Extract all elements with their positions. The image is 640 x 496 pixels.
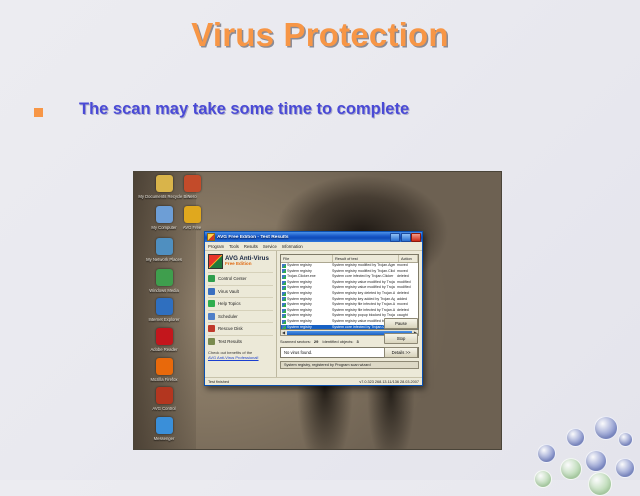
desktop-icon-glyph (156, 269, 173, 286)
desktop-icon[interactable]: My Network Places (136, 238, 192, 262)
pause-button[interactable]: Pause (384, 318, 418, 329)
close-button[interactable] (411, 233, 421, 242)
bullet-text: The scan may take some time to complete (79, 100, 409, 120)
desktop-icon-glyph (156, 328, 173, 345)
window-titlebar[interactable]: AVG Free Edition - Test Results (205, 232, 422, 242)
page-title: Virus Protection (0, 16, 640, 54)
nav-item-scheduler[interactable]: Scheduler (208, 310, 273, 323)
menu-item-tools[interactable]: Tools (229, 244, 239, 249)
desktop-icon-glyph (184, 175, 201, 192)
decorative-bubble (537, 444, 556, 463)
nav-item-icon (208, 313, 215, 320)
avg-app-icon (207, 233, 215, 241)
decorative-bubble (615, 458, 635, 478)
current-path-text: System registry, registered by Program s… (284, 363, 371, 367)
nav-item-list: Control CenterVirus VaultHelp TopicsSche… (208, 272, 273, 347)
desktop-icon-glyph (156, 358, 173, 375)
desktop-icon-glyph (156, 387, 173, 404)
menu-item-results[interactable]: Results (244, 244, 258, 249)
desktop-icon-label: AVG Free (164, 225, 220, 230)
avg-navigation-panel: AVG Anti-Virus Free Edition Control Cent… (205, 251, 277, 380)
promo-link[interactable]: AVG Anti-Virus Professional! (208, 355, 273, 360)
scroll-left-arrow[interactable]: ◀ (281, 330, 286, 335)
desktop-icon[interactable]: Messenger (136, 417, 192, 441)
results-table-header: File Result of test Action (281, 255, 418, 263)
desktop-icon-label: Adobe Reader (136, 347, 192, 352)
file-icon (282, 303, 286, 307)
file-icon (282, 314, 286, 318)
desktop-icon-label: My Network Places (136, 257, 192, 262)
desktop-icon[interactable]: Mozilla Firefox (136, 358, 192, 382)
statistic-label: Identified objects: (322, 339, 353, 344)
file-icon (282, 309, 286, 313)
column-header-result: Result of test (333, 255, 399, 262)
decorative-bubble (618, 432, 633, 447)
statistic: Scanned sectors:29 (280, 339, 318, 344)
nav-item-label: Help Topics (218, 301, 241, 306)
nav-item-virus-vault[interactable]: Virus Vault (208, 285, 273, 298)
menu-bar[interactable]: ProgramToolsResultsServiceInformation (205, 242, 422, 251)
nav-item-help-topics[interactable]: Help Topics (208, 297, 273, 310)
file-icon (282, 281, 286, 285)
desktop-icon[interactable]: Nero (164, 175, 220, 199)
file-icon (282, 325, 286, 329)
window-status-bar: Test finished v7.0.323 268.13.11/136 28.… (205, 377, 422, 385)
statistic-value: 29 (314, 339, 318, 344)
scan-message-text: No virus found. (284, 350, 312, 355)
desktop-icon-label: Windows Media (136, 288, 192, 293)
maximize-button[interactable] (401, 233, 411, 242)
desktop-icon[interactable]: Internet Explorer (136, 298, 192, 322)
square-bullet-icon (34, 108, 43, 117)
desktop-icon-glyph (156, 417, 173, 434)
status-right-text: v7.0.323 268.13.11/136 28.03.2007 (359, 380, 419, 384)
action-button-column[interactable]: PauseStopDetails >> (384, 318, 418, 358)
desktop-icon-label: Messenger (136, 436, 192, 441)
avg-brand-block: AVG Anti-Virus Free Edition (208, 254, 273, 272)
nav-item-rescue-disk[interactable]: Rescue Disk (208, 322, 273, 335)
file-icon (282, 297, 286, 301)
desktop-icon[interactable]: AVG Control (136, 387, 192, 411)
avg-promo-block[interactable]: Check out benefits of the AVG Anti-Virus… (208, 350, 273, 360)
desktop-icon-glyph (184, 206, 201, 223)
embedded-screenshot-image: My Documents Recycle BinNeroMy ComputerA… (133, 171, 502, 450)
decorative-bubble (585, 450, 607, 472)
menu-item-program[interactable]: Program (208, 244, 224, 249)
nav-item-control-center[interactable]: Control Center (208, 272, 273, 285)
nav-item-icon (208, 338, 215, 345)
decorative-bubbles (530, 410, 640, 480)
desktop-icon-label: AVG Control (136, 406, 192, 411)
file-icon (282, 286, 286, 290)
menu-item-service[interactable]: Service (263, 244, 277, 249)
desktop-icon-label: Mozilla Firefox (136, 377, 192, 382)
desktop-icon[interactable]: Adobe Reader (136, 328, 192, 352)
avg-brand-edition: Free Edition (225, 262, 269, 267)
decorative-bubble (566, 428, 585, 447)
details-button[interactable]: Details >> (384, 347, 418, 358)
current-path-box: System registry, registered by Program s… (280, 361, 419, 369)
bullet-list-item: The scan may take some time to complete (34, 100, 594, 120)
stop-button[interactable]: Stop (384, 333, 418, 344)
nav-item-label: Test Results (218, 339, 242, 344)
decorative-bubble (560, 458, 582, 480)
nav-item-icon (208, 288, 215, 295)
file-icon (282, 275, 286, 279)
desktop-icon-glyph (156, 298, 173, 315)
nav-item-label: Scheduler (218, 314, 238, 319)
decorative-bubble (594, 416, 618, 440)
file-icon (282, 264, 286, 268)
desktop-icon-label: Nero (164, 194, 220, 199)
nav-item-label: Virus Vault (218, 289, 239, 294)
desktop-icon[interactable]: AVG Free (164, 206, 220, 230)
decorative-bubble (534, 470, 552, 488)
decorative-bubble (588, 472, 612, 496)
file-icon (282, 320, 286, 324)
nav-item-label: Rescue Disk (218, 326, 243, 331)
desktop-icon-label: Internet Explorer (136, 317, 192, 322)
nav-item-test-results[interactable]: Test Results (208, 335, 273, 348)
column-header-action: Action (399, 255, 418, 262)
nav-item-label: Control Center (218, 276, 247, 281)
avg-results-panel: File Result of test Action System regist… (277, 251, 422, 380)
desktop-icon-glyph (156, 238, 173, 255)
avg-logo-icon (208, 254, 223, 269)
status-left-text: Test finished (208, 380, 229, 384)
nav-item-icon (208, 325, 215, 332)
file-icon (282, 292, 286, 296)
nav-item-icon (208, 300, 215, 307)
avg-antivirus-window[interactable]: AVG Free Edition - Test Results ProgramT… (204, 231, 423, 386)
file-icon (282, 269, 286, 273)
statistic-value: 3 (357, 339, 359, 344)
statistic: Identified objects:3 (322, 339, 358, 344)
desktop-icon[interactable]: Windows Media (136, 269, 192, 293)
minimize-button[interactable] (390, 233, 400, 242)
statistic-label: Scanned sectors: (280, 339, 311, 344)
window-title: AVG Free Edition - Test Results (217, 235, 390, 240)
menu-item-information[interactable]: Information (282, 244, 303, 249)
nav-item-icon (208, 275, 215, 282)
column-header-file: File (281, 255, 333, 262)
